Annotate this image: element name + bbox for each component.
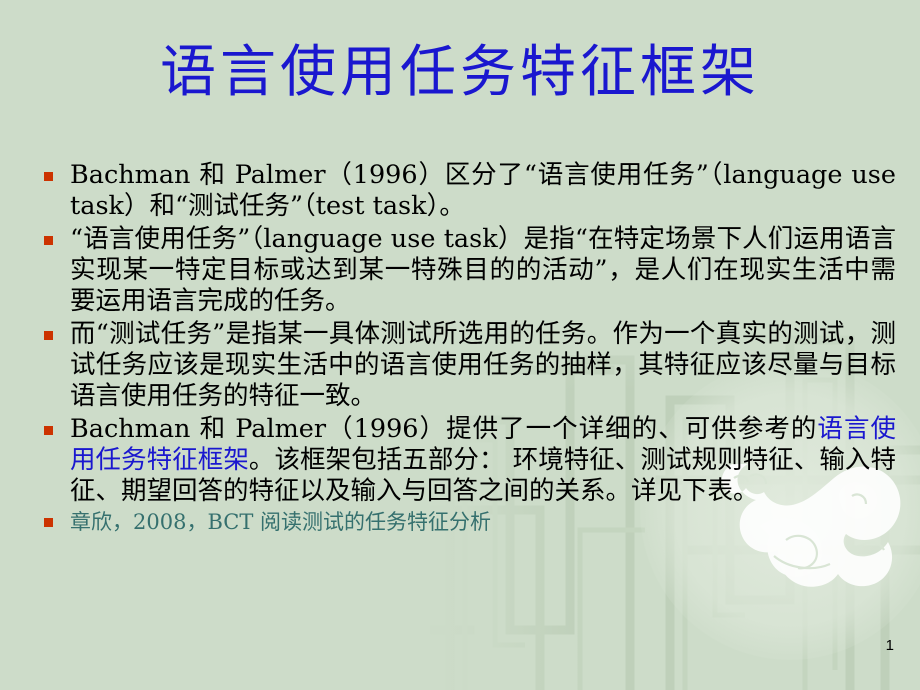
bullet-square-icon (44, 331, 53, 340)
bullet-text-5: 章欣，2008，BCT 阅读测试的任务特征分析 (70, 509, 896, 536)
list-item[interactable]: 而“测试任务”是指某一具体测试所选用的任务。作为一个真实的测试，测试任务应该是现… (36, 319, 896, 412)
bullet-square-icon (44, 172, 53, 181)
bullet-4-lead: Bachman 和 Palmer（1996）提供了一个详细的、可供参考的 (70, 414, 817, 444)
slide-canvas: 语言使用任务特征框架 Bachman 和 Palmer（1996）区分了“语言使… (0, 0, 920, 690)
bullet-square-icon (44, 236, 53, 245)
bullet-square-icon (44, 426, 53, 435)
list-item[interactable]: 章欣，2008，BCT 阅读测试的任务特征分析 (36, 509, 896, 536)
bullet-text-1: Bachman 和 Palmer（1996）区分了“语言使用任务”（langua… (70, 160, 896, 222)
list-item[interactable]: “语言使用任务”（language use task）是指“在特定场景下人们运用… (36, 224, 896, 317)
list-item[interactable]: Bachman 和 Palmer（1996）提供了一个详细的、可供参考的语言使用… (36, 414, 896, 507)
page-number: 1 (886, 637, 894, 654)
bullet-text-2: “语言使用任务”（language use task）是指“在特定场景下人们运用… (70, 224, 896, 317)
bullet-text-4: Bachman 和 Palmer（1996）提供了一个详细的、可供参考的语言使用… (70, 414, 896, 507)
bullet-text-3: 而“测试任务”是指某一具体测试所选用的任务。作为一个真实的测试，测试任务应该是现… (70, 319, 896, 412)
bullet-list: Bachman 和 Palmer（1996）区分了“语言使用任务”（langua… (36, 160, 896, 538)
bullet-4-tail: 。该框架包括五部分： (249, 445, 505, 475)
slide-title: 语言使用任务特征框架 (0, 40, 920, 106)
list-item[interactable]: Bachman 和 Palmer（1996）区分了“语言使用任务”（langua… (36, 160, 896, 222)
bullet-square-icon (44, 518, 53, 527)
